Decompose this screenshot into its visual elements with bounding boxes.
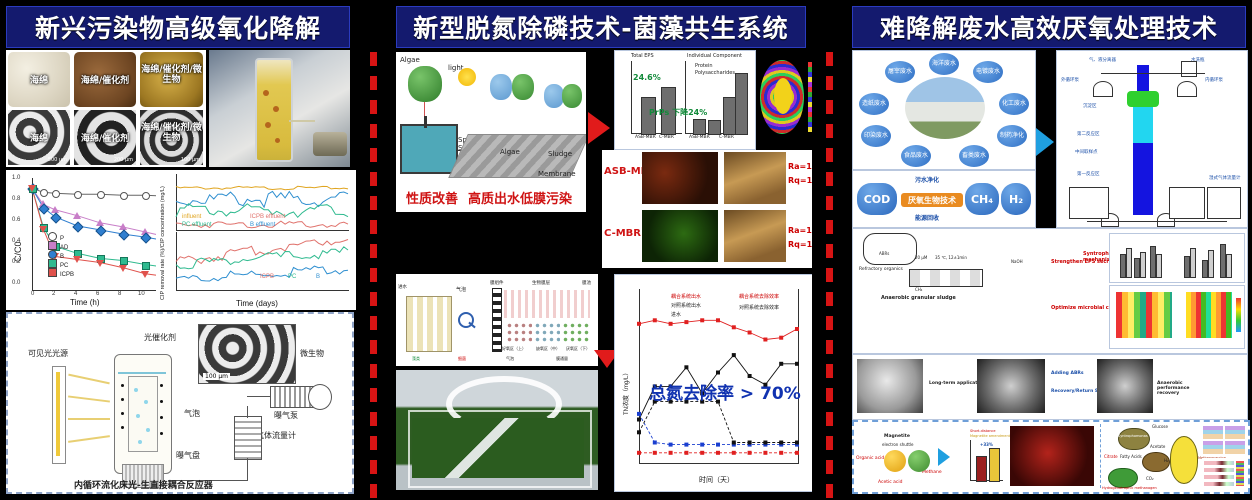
data-point (120, 192, 128, 200)
legend-item: ICPB (260, 274, 274, 280)
label-ch4: NaOH (1011, 259, 1023, 264)
membrane-process-schematic: 进水 气泡 膜组件 生物膜层 膜池 好氧区（上） 缺氧区（中） 厌氧区（下） 藻… (396, 274, 598, 366)
catalyst-bead (275, 138, 280, 143)
label-visible-light-source: 可见光光源 (28, 348, 68, 359)
lab-reactor-photo (209, 50, 350, 167)
scale-bar-100um: 100 µm (181, 157, 200, 163)
sem-sponge: 海绵 500 µm (8, 110, 70, 165)
data-point (763, 441, 767, 445)
series-line (176, 186, 348, 189)
process-legend-bubble: 气泡 (506, 356, 514, 362)
tank-dosing (1207, 187, 1241, 219)
chart-cip: CIP removal rate (%)/CIP concentration (… (156, 170, 356, 310)
grp-bar (1208, 250, 1214, 278)
label-bubble-process: 气泡 (456, 286, 466, 293)
chart-cco-vs-time: C/C0 Time (h) 1.0 0.8 0.6 0.4 0.2 0.0 0 … (6, 170, 176, 310)
label-h2: H₂ (1164, 458, 1169, 463)
abundance-mini-1 (1203, 426, 1223, 439)
legend-swatch (48, 232, 57, 241)
data-point (779, 336, 783, 340)
label-gas-liquid-separator: 气、液分离器 (1089, 57, 1116, 63)
data-point (52, 190, 60, 198)
sem-sponge-catalyst-microbe-caption: 海绵/催化剂/微生物 (140, 124, 203, 144)
panel-3: 难降解废水高效厌氧处理技术 海洋废水 屠宰废水 电镀废水 造纸废水 化工废水 印… (846, 0, 1252, 500)
methane-bar-control (976, 456, 987, 482)
photo-sponge-catalyst-caption: 海绵/催化剂 (74, 73, 136, 86)
data-point (637, 412, 641, 416)
data-point (732, 353, 736, 357)
bacteria-char (490, 74, 512, 100)
catalyst-particle (160, 416, 163, 419)
label-membrane-module: 膜组件 (490, 280, 504, 286)
lamp-filament (56, 372, 60, 456)
process-legend-flux: 膜通量 (556, 356, 568, 362)
chain-top-label: 污水净化 (915, 175, 939, 184)
algae-char (562, 84, 582, 108)
hub-spoke-4: 化工废水 (999, 93, 1029, 115)
data-point (795, 327, 799, 331)
data-point (653, 318, 657, 322)
sem-granule-degraded (977, 359, 1045, 413)
legend-item: B effluent (250, 222, 275, 228)
clsm-image-asb (642, 152, 718, 204)
sem-biofilm-inset: 100 µm (198, 324, 296, 384)
chart-eps-bars: Total EPS Individual Component 24.6% PrP… (614, 50, 756, 150)
eps-legend-polysaccharides: Polysaccharides (695, 70, 735, 76)
hub-spoke-0: 海洋废水 (929, 53, 959, 75)
panel-2-title-bar: 新型脱氮除磷技术-菌藻共生系统 (396, 6, 806, 48)
label-citrate: Citrate (1104, 454, 1118, 459)
methane-bar-value: +33% (980, 442, 993, 447)
grp-bar (1190, 248, 1196, 278)
data-point (637, 322, 641, 326)
label-first-reaction-zone: 第一反应区 (1077, 171, 1100, 177)
sem-granule-intact (857, 359, 923, 413)
data-point (142, 262, 150, 270)
data-point (732, 325, 736, 329)
label-settling-zone: 沉淀区 (1083, 103, 1097, 109)
catalyst-particle (121, 398, 124, 401)
panel-3-title: 难降解废水高效厌氧处理技术 (880, 9, 1218, 45)
label-electron-shuttle: electron shuttle (882, 442, 913, 447)
pipe-top (1101, 73, 1205, 74)
pump-left (1093, 81, 1113, 97)
legend-label: ICPB (60, 272, 74, 278)
chart-abundance-curves (1202, 424, 1246, 456)
grp-bar (1126, 248, 1132, 278)
data-point (763, 451, 767, 455)
chart-tn-removal: TN浓度（mg/L） TN去除率（%） 时间（天） 耦合系统出水 对照系统出水 … (614, 274, 820, 492)
data-point (748, 374, 752, 378)
eps-xtick: ASB-MBR (689, 135, 710, 140)
label-external-pump: 外循环泵 (1061, 77, 1079, 83)
panel-2-title: 新型脱氮除磷技术-菌藻共生系统 (413, 9, 788, 45)
data-point (684, 443, 688, 447)
data-point (795, 362, 799, 366)
legend-item: influent (182, 214, 201, 220)
algae-char (512, 74, 534, 100)
cell-hydrogenotrophic (1108, 468, 1138, 488)
pump-right (1177, 81, 1197, 97)
bubble (138, 440, 142, 444)
taxa-row (1204, 468, 1234, 472)
panel-1-body: 海绵 海绵/催化剂 海绵/催化剂/微生物 海绵 500 µm 海绵/催化剂 20… (6, 50, 350, 494)
bacteria-char (544, 84, 564, 108)
label-co2: CO₂ (1146, 476, 1154, 481)
catalyst-particle (121, 412, 124, 415)
data-point (716, 451, 720, 455)
membrane-stack (492, 288, 502, 352)
chart-cip-curves (156, 170, 356, 310)
label-magnetite: Magnetite (884, 434, 910, 439)
catalyst-particle (160, 400, 163, 403)
fish-microscopy-image (1010, 426, 1094, 486)
reactor-block-row (909, 269, 983, 287)
afm-image-asb (724, 152, 786, 204)
eps-bar-charts-group (1109, 233, 1245, 283)
magnetite-pathway-card: Magnetite electron shuttle Organic acid … (852, 420, 1250, 494)
pathway-arrow (938, 448, 950, 466)
label-organic-acid: Organic acid (856, 456, 884, 461)
reaction-curve-area (504, 290, 590, 318)
panel-divider-2 (812, 0, 846, 500)
methane-bar-magnetite (989, 448, 1000, 482)
algae-bacteria-concept: Algae Species Selection light Algae Slud… (396, 52, 586, 212)
bubble (136, 414, 140, 418)
data-point (637, 418, 641, 422)
process-legend-algae: 藻类 (412, 356, 420, 362)
chain-core-tech: 厌氧生物技术 (901, 193, 963, 207)
eps-xtick: ASB-MBR (635, 135, 656, 140)
tn-legend-control-rate: 对照系统去除效率 (739, 304, 779, 311)
eps-xtick: C-MBR (659, 135, 674, 140)
data-point (669, 322, 673, 326)
chart-taxa-bars (1202, 458, 1246, 488)
chain-cod: COD (857, 183, 897, 215)
divider-dashed-line (826, 52, 833, 500)
label-methane: Methane (922, 470, 942, 475)
tank-pipette (424, 116, 427, 128)
light-ray (68, 395, 110, 402)
zone-label-anaerobic: 厌氧区（下） (566, 346, 590, 352)
label-anaerobic-recovery: Anaerobic performance recovery (1157, 381, 1193, 396)
sem-sponge-caption: 海绵 (8, 131, 70, 144)
clsm-image-c (642, 210, 718, 262)
abundance-mini-3 (1203, 441, 1223, 454)
concept-to-results-arrow (588, 112, 610, 144)
panel-1: 新兴污染物高级氧化降解 海绵 海绵/催化剂 海绵/催化剂/微生物 海绵 500 … (0, 0, 356, 500)
catalyst-particle (160, 432, 163, 435)
label-mid-sampling-point: 中间取样点 (1075, 149, 1098, 155)
label-abrs: ABRs (879, 251, 889, 256)
hub-to-reactor-chevron (1036, 128, 1054, 156)
data-point (716, 371, 720, 375)
label-internal-pump: 内循环泵 (1205, 77, 1223, 83)
data-point (748, 441, 752, 445)
catalyst-bead (273, 106, 279, 112)
bacteria-cell-yellow (884, 450, 906, 472)
community-heatmaps-group (1109, 285, 1245, 349)
panel-1-photo-card: 海绵 海绵/催化剂 海绵/催化剂/微生物 海绵 500 µm 海绵/催化剂 20… (6, 50, 206, 167)
cell-syntrophomonas (1118, 428, 1150, 450)
tank-effluent (1169, 187, 1205, 219)
concept-bottom-right: 高质出水低膜污染 (468, 188, 572, 207)
reactor-liquid-level (118, 372, 166, 374)
data-point (637, 451, 641, 455)
tubing-line (247, 458, 248, 481)
data-point (51, 206, 59, 213)
hub-center-photo (905, 77, 985, 139)
pipe-bottom (1087, 221, 1227, 222)
label-bubble: 气泡 (184, 408, 200, 419)
sem-recovery-row: Long-term application Recovery/Return Sl… (852, 354, 1248, 420)
legend-item: PC effluent (182, 222, 212, 228)
data-point (732, 441, 736, 445)
eps-panel-title-total: Total EPS (631, 53, 654, 59)
bubble (134, 388, 138, 392)
data-point (653, 441, 657, 445)
label-wet-gas-meter: 湿式气体流量计 (1209, 175, 1241, 181)
data-point (39, 226, 47, 233)
legend-item: B (316, 274, 320, 280)
taxa-legend (1236, 461, 1244, 486)
label-membrane: Membrane (538, 170, 576, 178)
reactor-column-first-zone (1133, 141, 1153, 215)
concept-bottom-left: 性质改善 (406, 188, 458, 207)
sem-inset-scale: 100 µm (203, 373, 230, 380)
data-point (669, 443, 673, 447)
series-line (639, 402, 797, 443)
data-point (763, 338, 767, 342)
label-photocatalyst: 光催化剂 (144, 332, 176, 343)
cod-conversion-chain: COD 厌氧生物技术 污水净化 能源回收 CH₄ H₂ (852, 170, 1036, 228)
tn-legend-coupled-rate: 耦合系统去除效率 (739, 293, 779, 300)
taxa-row (1204, 482, 1234, 486)
afm-image-c (724, 210, 786, 262)
community-ring-figure (758, 50, 818, 148)
eps-panel-title-individual: Individual Component (687, 53, 742, 59)
data-point (779, 362, 783, 366)
reactor-settler (1127, 91, 1159, 107)
data-point (779, 441, 783, 445)
ring-center (774, 78, 792, 114)
heatmap-right (1186, 292, 1232, 338)
taxa-row (1204, 475, 1234, 479)
photo-sponge: 海绵 (8, 52, 70, 107)
wash-bottle-icon (1181, 61, 1197, 77)
label-algae: Algae (400, 56, 420, 64)
heatmap-colorbar (1236, 298, 1241, 332)
panel-divider-1 (356, 0, 390, 500)
methane-legend-control: Short-distance (970, 429, 996, 433)
hub-spoke-6: 制药净化 (997, 125, 1027, 147)
legend-swatch (48, 241, 57, 250)
catalyst-bead (263, 90, 269, 96)
label-algae-on-membrane: Algae (500, 148, 520, 156)
tank-influent (1069, 187, 1109, 219)
data-point (119, 265, 127, 272)
series-line (639, 320, 797, 339)
label-microorganism: 微生物 (300, 348, 324, 359)
label-aeration-pump: 曝气泵 (274, 410, 298, 421)
data-point (700, 451, 704, 455)
data-point (28, 185, 36, 192)
data-point (96, 260, 104, 267)
label-process-inlet: 进水 (398, 284, 407, 290)
light-ray (68, 418, 110, 420)
bacteria-zone-aerobic (562, 322, 590, 344)
label-biofilm-layer: 生物膜层 (532, 280, 550, 286)
label-syntrophomonas: Syntrophomonas (1118, 434, 1148, 438)
legend-item: ICPB effluent (250, 214, 285, 220)
tank-frame (408, 410, 592, 488)
legend-item: PC (288, 274, 296, 280)
afm-clsm-card: ASB-MBR C-MBR Ra=110nm Rq=147nm Ra=153nm… (602, 150, 818, 268)
hub-spoke-7: 食品废水 (901, 145, 931, 167)
label-membrane-tank: 膜池 (582, 280, 591, 286)
panel-2-body: Algae Species Selection light Algae Slud… (396, 50, 806, 494)
panel-3-body: 海洋废水 屠宰废水 电镀废水 造纸废水 化工废水 印染废水 制药净化 食品废水 … (852, 50, 1246, 494)
sun-icon (458, 68, 476, 86)
reactor-draft-tube (128, 376, 158, 452)
label-acetate: Acetate (1150, 444, 1165, 449)
grp-bar (1140, 252, 1146, 278)
label-gas-flow-meter: 气体流量计 (256, 430, 296, 441)
legend-swatch (48, 259, 57, 268)
label-temp-conditions: CH₄ (915, 287, 922, 292)
tubing-line (247, 396, 271, 397)
taxa-row (1204, 461, 1234, 465)
gas-flow-meter-body (234, 416, 262, 460)
data-point (795, 441, 799, 445)
photo-sponge-catalyst-microbe: 海绵/催化剂/微生物 (140, 52, 203, 107)
eps-bar (693, 119, 706, 135)
tubing (289, 120, 315, 122)
data-point (141, 271, 149, 278)
light-ray (68, 374, 109, 385)
label-sludge: Sludge (548, 150, 572, 158)
cell-methanosarcina (1170, 436, 1198, 484)
data-point (73, 212, 81, 219)
hub-spoke-8: 畜类废水 (959, 145, 989, 167)
series-line (176, 247, 348, 269)
chain-h2: H₂ (1001, 183, 1031, 215)
sem-sponge-catalyst: 海绵/催化剂 200 µm (74, 110, 136, 165)
photo-sponge-catalyst: 海绵/催化剂 (74, 52, 136, 107)
reactor-caption: 内循环流化床光-生直接耦合反应器 (74, 478, 213, 491)
catalyst-particle (121, 426, 124, 429)
tn-legend-coupled-eff: 耦合系统出水 (671, 293, 701, 300)
hub-spoke-5: 印染废水 (861, 125, 891, 147)
legend-item: ICPB (48, 268, 74, 278)
hub-spoke-1: 屠宰废水 (885, 61, 915, 83)
algae-reactor-photo (396, 370, 598, 490)
scale-bar-500um: 500 µm (48, 157, 67, 163)
eps-legend-protein: Protein (695, 63, 713, 69)
pump-body (313, 132, 347, 156)
light-ray (68, 435, 110, 443)
label-ags: Anaerobic granular sludge (881, 295, 956, 301)
data-point (779, 451, 783, 455)
tn-legend-control-eff: 对照系统出水 (671, 302, 701, 309)
data-point (700, 318, 704, 322)
aeration-pump-head (308, 384, 332, 410)
anaerobic-application-hub: 海洋废水 屠宰废水 电镀废水 造纸废水 化工废水 印染废水 制药净化 食品废水 … (852, 50, 1036, 170)
abundance-mini-4 (1225, 441, 1245, 454)
abundance-mini-2 (1225, 426, 1245, 439)
panel-1-title-bar: 新兴污染物高级氧化降解 (6, 6, 350, 48)
label-aeration-disc: 曝气盘 (176, 450, 200, 461)
eps-annotation-prps: PrPs 下降24% (649, 107, 707, 118)
data-point (684, 451, 688, 455)
label-dose-20um: 35 ℃, 12±1min (935, 255, 967, 260)
data-point (716, 318, 720, 322)
scale-bar-200um: 200 µm (114, 157, 133, 163)
data-point (748, 451, 752, 455)
data-point (748, 331, 752, 335)
grp-bar (1226, 254, 1232, 278)
photo-sponge-catalyst-microbe-caption: 海绵/催化剂/微生物 (140, 66, 203, 86)
panel-3-title-bar: 难降解废水高效厌氧处理技术 (852, 6, 1246, 48)
label-glucose: Glucose (1152, 424, 1168, 429)
zone-label-anoxic: 缺氧区（中） (536, 346, 560, 352)
catalyst-particle (160, 384, 163, 387)
tn-highlight-text: 总氮去除率 > 70% (649, 379, 801, 404)
data-point (732, 451, 736, 455)
methane-legend-magnetite: Magnetite amendment (970, 434, 1010, 438)
data-point (716, 443, 720, 447)
grp-bar (1156, 254, 1162, 278)
culture-tank (400, 124, 458, 174)
label-hydrogenotrophic: Hydrogenotrophic methanogen (1102, 486, 1157, 490)
poster-root: 新兴污染物高级氧化降解 海绵 海绵/催化剂 海绵/催化剂/微生物 海绵 500 … (0, 0, 1252, 500)
eps-bar (708, 120, 721, 135)
catalyst-particle (121, 384, 124, 387)
zone-label-aerobic: 好氧区（上） (502, 346, 526, 352)
bacteria-cell-green (908, 450, 930, 472)
sem-sponge-catalyst-microbe: 海绵/催化剂/微生物 100 µm (140, 110, 203, 165)
heatmap-left (1116, 292, 1172, 338)
eps-annotation-percent: 24.6% (633, 73, 661, 82)
chain-ch4: CH₄ (965, 183, 999, 215)
granular-sludge-bubble (863, 233, 917, 265)
label-second-reaction-zone: 第二反应区 (1077, 131, 1100, 137)
data-point (684, 365, 688, 369)
legend-swatch (48, 250, 57, 259)
membrane-module-3d (406, 296, 452, 352)
eps-bar (735, 73, 748, 135)
data-point (684, 320, 688, 324)
bacteria-zone-anoxic (534, 322, 560, 344)
process-legend-bacteria: 细菌 (458, 356, 466, 362)
pathway-divider (1100, 424, 1101, 488)
sem-granule-recovered (1097, 359, 1153, 413)
ic-reactor-schematic: 气、液分离器 水洗瓶 外循环泵 内循环泵 沉淀区 第二反应区 中间取样点 第一反… (1056, 50, 1248, 228)
afm-row-label-c: C-MBR (604, 228, 641, 239)
panel-2: 新型脱氮除磷技术-菌藻共生系统 Algae Species Selection … (390, 0, 812, 500)
data-point (669, 451, 673, 455)
bubble (146, 428, 150, 432)
panel-1-title: 新兴污染物高级氧化降解 (35, 9, 321, 45)
tubing-line (247, 406, 248, 418)
label-refractory-organics: Refractory organics (859, 267, 903, 272)
eps-xtick: C-MBR (719, 135, 734, 140)
data-point (653, 451, 657, 455)
photo-sponge-caption: 海绵 (8, 73, 70, 86)
data-point (637, 430, 641, 434)
algae-cluster (408, 66, 442, 102)
data-point (700, 443, 704, 447)
